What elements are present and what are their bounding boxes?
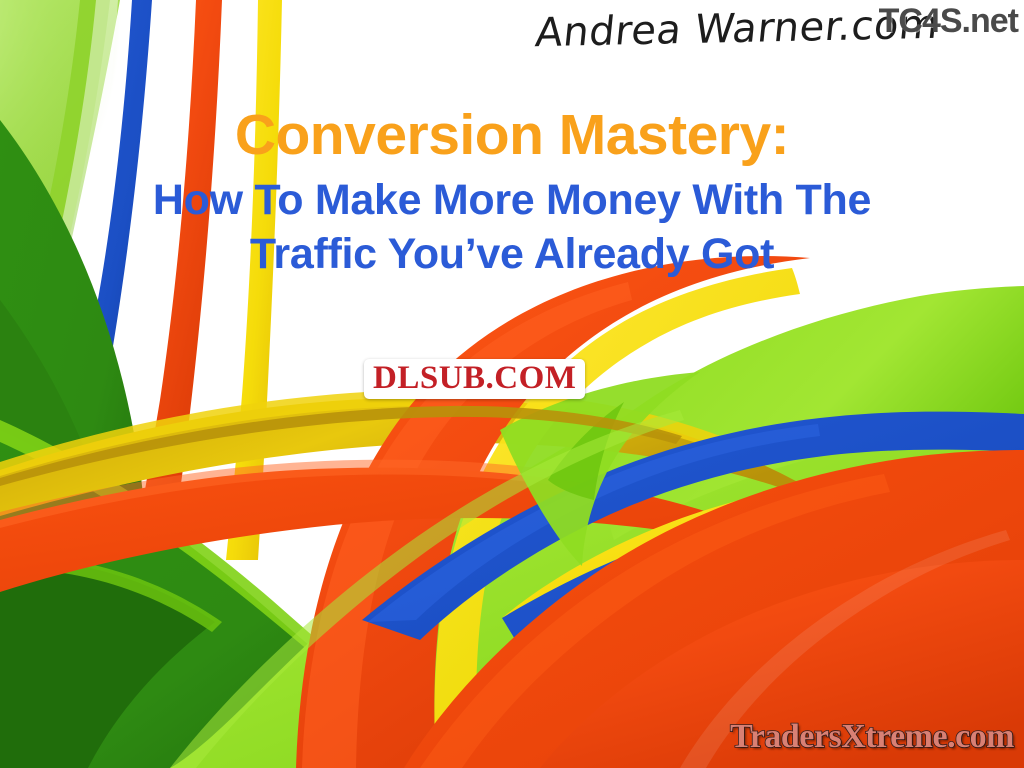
slide-subtitle-line-1: How To Make More Money With The [0, 173, 1024, 227]
slide-text-block: Conversion Mastery: How To Make More Mon… [0, 104, 1024, 281]
tc4s-watermark: TC4S.net [879, 2, 1018, 41]
dlsub-watermark-badge: DLSUB.COM [364, 359, 585, 399]
dlsub-watermark-text: DLSUB.COM [373, 360, 576, 396]
slide-subtitle-line-2: Traffic You’ve Already Got [0, 227, 1024, 281]
slide-title: Conversion Mastery: [0, 104, 1024, 167]
presentation-slide: Andrea Warner.com TC4S.net Conversion Ma… [0, 0, 1024, 768]
tradersxtreme-watermark: TradersXtreme.com [730, 718, 1014, 756]
